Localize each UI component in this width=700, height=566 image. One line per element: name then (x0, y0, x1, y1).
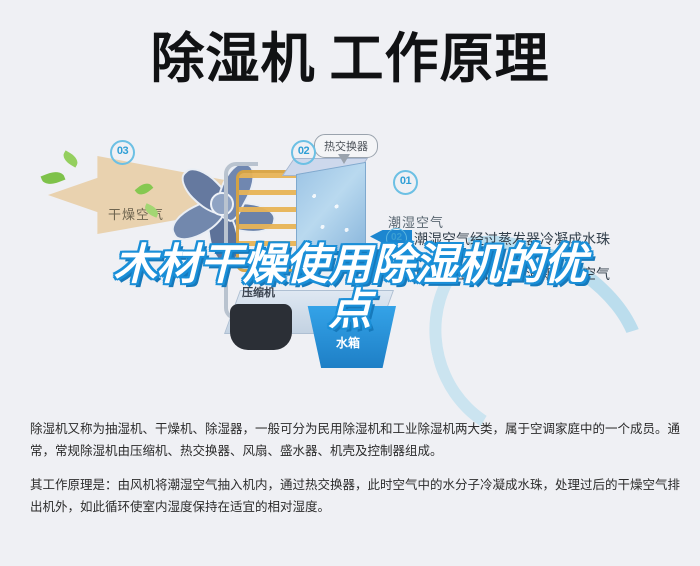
page-header: 除湿机工作原理 (0, 28, 700, 90)
list-item: 03 从上部出风口吹出清新干爽空气 (386, 263, 686, 284)
body-paragraph-1: 除湿机又称为抽湿机、干燥机、除湿器，一般可分为民用除湿机和工业除湿机两大类，属于… (30, 418, 680, 462)
leaf-icon (41, 168, 66, 187)
legend-number-badge: 03 (386, 263, 407, 284)
page-title-part2: 工作原理 (330, 29, 550, 89)
infographic-page: 除湿机工作原理 干燥空气 压缩机 水箱 热交换器 01 (0, 0, 700, 566)
diagram-marker-03-badge: 03 (110, 140, 135, 165)
water-tank-label: 水箱 (336, 334, 360, 351)
leaf-icon (61, 150, 81, 167)
legend-item-label: 潮湿空气经过蒸发器冷凝成水珠 (414, 229, 610, 249)
body-copy: 除湿机又称为抽湿机、干燥机、除湿器，一般可分为民用除湿机和工业除湿机两大类，属于… (30, 418, 680, 530)
diagram-marker-02: 02 (291, 140, 316, 165)
compressor-unit (230, 304, 292, 350)
page-title-part1: 除湿机 (151, 29, 316, 89)
step-legend: 02 潮湿空气经过蒸发器冷凝成水珠 03 从上部出风口吹出清新干爽空气 (386, 228, 686, 298)
callout-tail-icon (338, 154, 350, 164)
legend-item-label: 从上部出风口吹出清新干爽空气 (414, 264, 610, 284)
compressor-label: 压缩机 (242, 284, 275, 300)
diagram-marker-02-badge: 02 (291, 140, 316, 165)
diagram-marker-03: 03 (110, 140, 135, 165)
diagram-marker-01: 01 (393, 170, 418, 195)
legend-number-badge: 02 (386, 228, 407, 249)
page-title: 除湿机工作原理 (0, 28, 700, 90)
heat-exchanger-coil (296, 162, 366, 260)
body-paragraph-2: 其工作原理是：由风机将潮湿空气抽入机内，通过热交换器，此时空气中的水分子冷凝成水… (30, 474, 680, 518)
list-item: 02 潮湿空气经过蒸发器冷凝成水珠 (386, 228, 686, 249)
diagram-marker-01-badge: 01 (393, 170, 418, 195)
